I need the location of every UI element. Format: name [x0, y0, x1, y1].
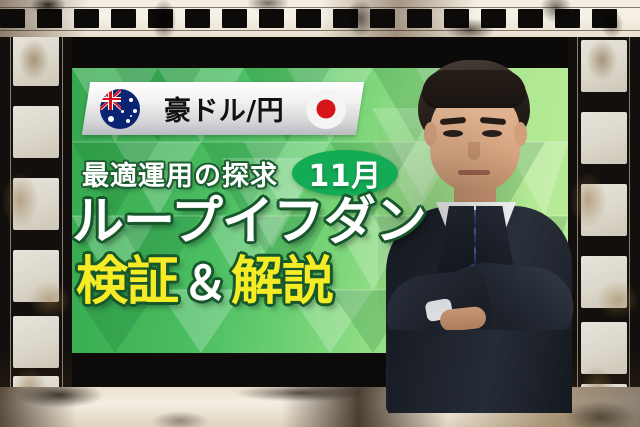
- star-epsilon-crucis: [130, 115, 132, 117]
- eye-right: [482, 130, 502, 137]
- commonwealth-star: [108, 116, 114, 122]
- australia-flag-icon: [100, 89, 140, 129]
- ear-left: [424, 122, 437, 146]
- japan-flag-icon: [306, 89, 346, 129]
- subtitle-part-commentary: 解説: [231, 256, 333, 308]
- star-beta-crucis: [133, 109, 137, 113]
- star-alpha-crucis: [129, 98, 133, 102]
- star-delta-crucis: [121, 110, 124, 113]
- subtitle-ampersand: ＆: [178, 260, 231, 306]
- film-strip-left: [0, 0, 72, 427]
- nose: [468, 142, 480, 160]
- ear-right: [514, 122, 527, 146]
- sub-title: 検証 ＆ 解説: [76, 256, 333, 308]
- star-gamma-crucis: [126, 119, 130, 123]
- subtitle-row: 最適運用の探求 11月: [82, 150, 398, 196]
- film-strip-top: [0, 0, 640, 37]
- film-strip-right: [568, 0, 640, 427]
- hinomaru-disc: [317, 99, 336, 118]
- union-jack: [100, 89, 121, 110]
- currency-pair-content: 豪ドル/円: [86, 82, 360, 135]
- tagline-text: 最適運用の探求: [82, 154, 278, 193]
- subtitle-part-verification: 検証: [76, 256, 178, 308]
- eye-left: [443, 130, 463, 137]
- month-badge: 11月: [292, 150, 398, 196]
- hair-fringe: [422, 70, 526, 108]
- month-label: 11月: [308, 151, 381, 195]
- torso-lower: [388, 330, 572, 413]
- thumbnail-canvas: 豪ドル/円 最適運用の探求 11月 ループイフダン 検証 ＆ 解説: [0, 0, 640, 427]
- mouth: [458, 170, 490, 175]
- currency-pair-label: 豪ドル/円: [142, 89, 306, 128]
- main-title: ループイフダン: [72, 196, 426, 248]
